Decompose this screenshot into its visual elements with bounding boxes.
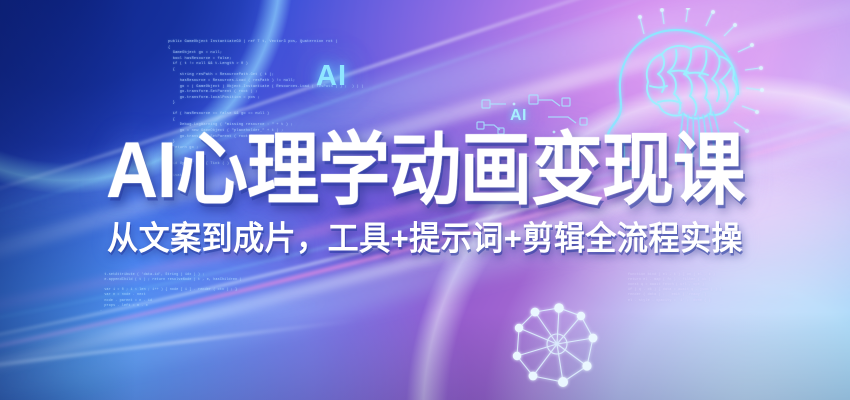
page-title: AI心理学动画变现课 xyxy=(106,131,744,210)
title-container: AI心理学动画变现课 xyxy=(0,131,850,203)
radiating-rays-icon xyxy=(638,8,764,133)
subtitle-container: 从文案到成片，工具+提示词+剪辑全流程实操 xyxy=(0,220,850,256)
page-subtitle: 从文案到成片，工具+提示词+剪辑全流程实操 xyxy=(107,220,743,258)
decorative-code-bottom-left: t.setAttribute ( 'data-id', String ( idx… xyxy=(100,272,242,313)
ai-badge-small: AI xyxy=(510,107,527,125)
brain-icon xyxy=(647,46,737,119)
decorative-code-right: function bind ( el , k ) { on ( el , k )… xyxy=(628,272,722,303)
neural-network-icon xyxy=(505,298,609,390)
ai-badge-large: AI xyxy=(316,60,347,93)
ai-course-promo-banner: public GameObject InstantiateGO ( ref T … xyxy=(0,0,850,400)
